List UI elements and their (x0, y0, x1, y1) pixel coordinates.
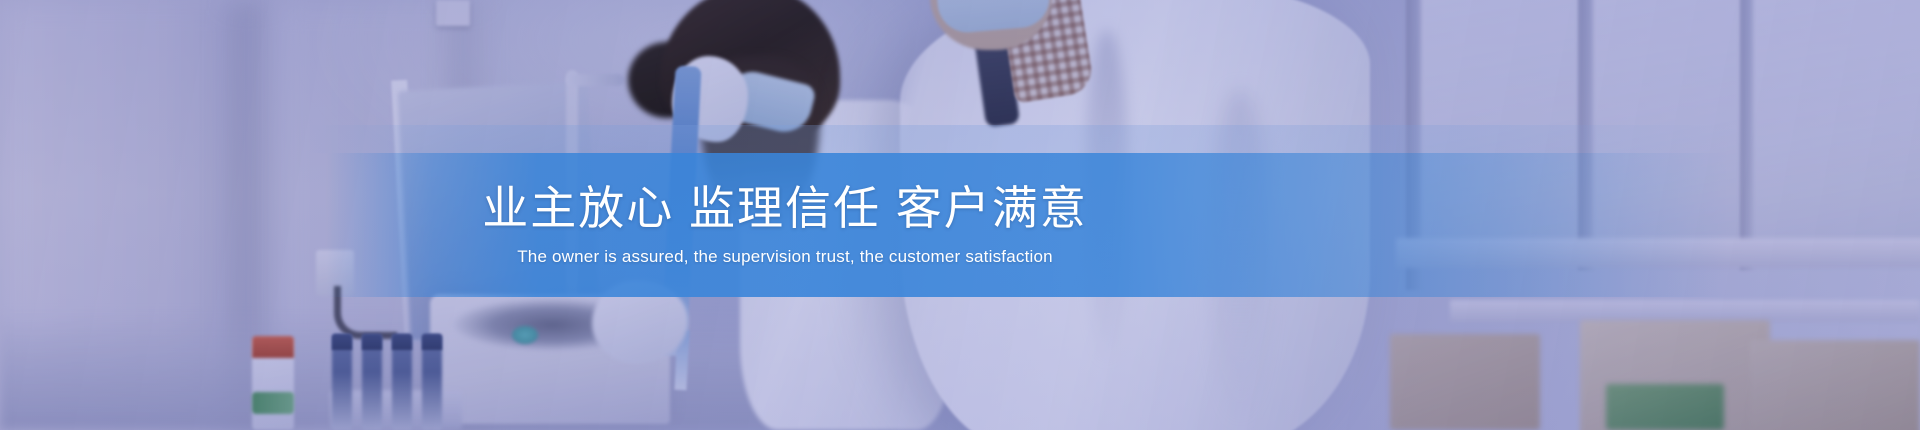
band-top-strip (0, 125, 1920, 153)
headline: 业主放心 监理信任 客户满意 (482, 183, 1088, 235)
banner: 业主放心 监理信任 客户满意 The owner is assured, the… (0, 0, 1920, 430)
subtitle: The owner is assured, the supervision tr… (517, 247, 1053, 267)
message-block: 业主放心 监理信任 客户满意 The owner is assured, the… (0, 153, 1570, 297)
